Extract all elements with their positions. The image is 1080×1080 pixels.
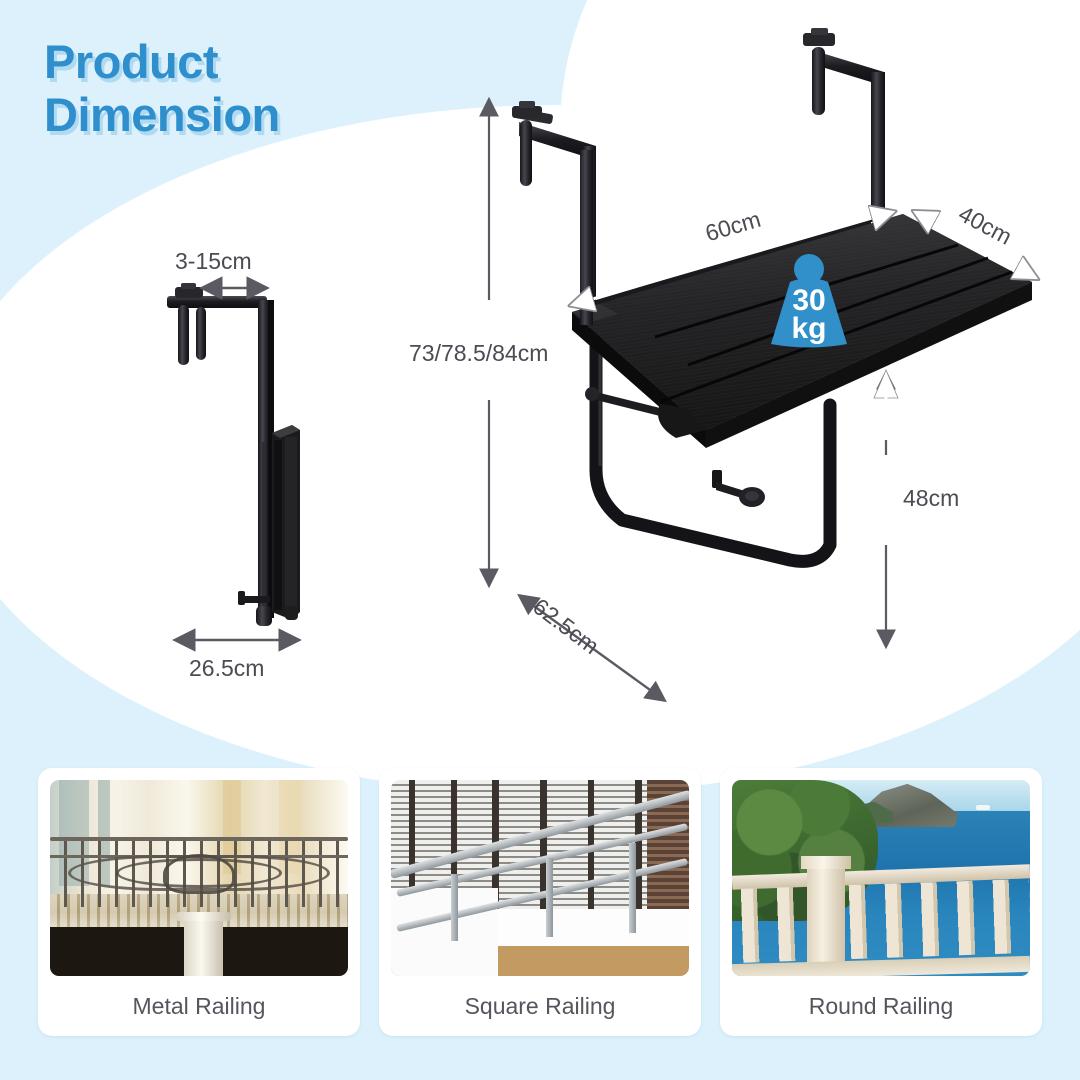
- railing-card-label: Round Railing: [732, 976, 1030, 1036]
- square-railing-photo: [391, 780, 689, 976]
- metal-railing-photo: [50, 780, 348, 976]
- load-capacity-badge: 30 kg: [757, 252, 861, 352]
- railing-card-square[interactable]: Square Railing: [379, 768, 701, 1036]
- railing-compatibility-cards: Metal Railing Square Rail: [0, 768, 1080, 1080]
- railing-card-round[interactable]: Round Railing: [720, 768, 1042, 1036]
- infographic-canvas: Product Dimension: [0, 0, 1080, 1080]
- tabletop-height-label: 48cm: [903, 485, 959, 512]
- height-label: 73/78.5/84cm: [409, 340, 548, 367]
- folded-depth-label: 26.5cm: [189, 655, 264, 682]
- clamp-range-label: 3-15cm: [175, 248, 252, 275]
- railing-card-label: Metal Railing: [50, 976, 348, 1036]
- railing-card-label: Square Railing: [391, 976, 689, 1036]
- load-capacity-unit: kg: [757, 314, 861, 344]
- railing-card-metal[interactable]: Metal Railing: [38, 768, 360, 1036]
- round-railing-photo: [732, 780, 1030, 976]
